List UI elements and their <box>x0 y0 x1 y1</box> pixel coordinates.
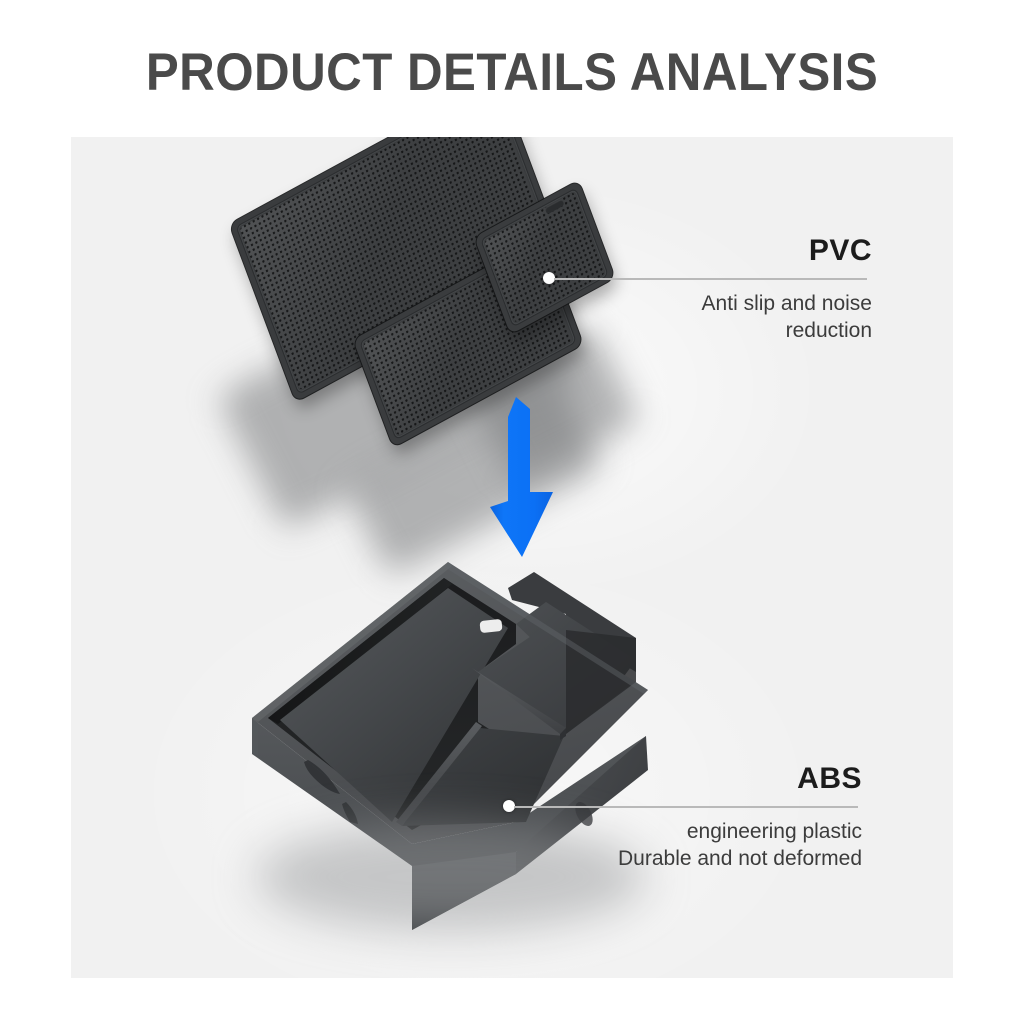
callout-abs-body-line-2: Durable and not deformed <box>540 845 862 872</box>
callout-pvc-leader-line <box>554 278 867 280</box>
callout-abs-body-line-1: engineering plastic <box>540 818 862 845</box>
abs-tray-assembly <box>216 522 676 942</box>
callout-abs-heading: ABS <box>590 762 862 796</box>
callout-abs-leader-line <box>514 806 858 808</box>
callout-pvc-body: Anti slip and noise reduction <box>560 290 872 345</box>
page-title: PRODUCT DETAILS ANALYSIS <box>36 42 988 103</box>
product-infographic: PRODUCT DETAILS ANALYSIS <box>0 0 1024 1024</box>
callout-pvc-body-line-2: reduction <box>560 317 872 344</box>
callout-pvc-heading: PVC <box>600 234 872 268</box>
callout-pvc-body-line-1: Anti slip and noise <box>560 290 872 317</box>
callout-abs-body: engineering plastic Durable and not defo… <box>540 818 862 873</box>
